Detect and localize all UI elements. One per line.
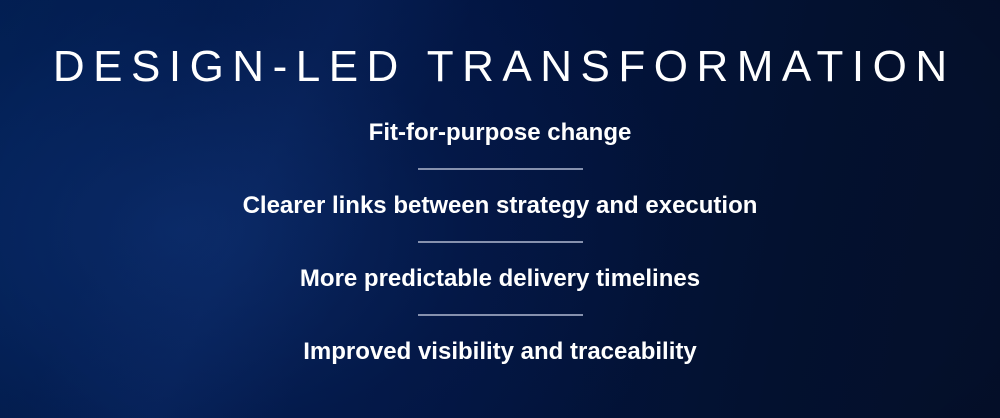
benefit-item-2: Clearer links between strategy and execu… [243,191,758,220]
benefit-divider-1 [418,168,583,170]
slide-canvas: DESIGN-LED TRANSFORMATION Fit-for-purpos… [0,0,1000,418]
benefit-item-1: Fit-for-purpose change [369,118,632,147]
benefit-item-3: More predictable delivery timelines [300,264,700,293]
slide-content: DESIGN-LED TRANSFORMATION Fit-for-purpos… [0,0,1000,418]
slide-title: DESIGN-LED TRANSFORMATION [0,45,1000,89]
benefit-divider-2 [418,241,583,243]
benefit-item-4: Improved visibility and traceability [303,337,696,366]
benefit-list: Fit-for-purpose change Clearer links bet… [0,118,1000,366]
benefit-divider-3 [418,314,583,316]
